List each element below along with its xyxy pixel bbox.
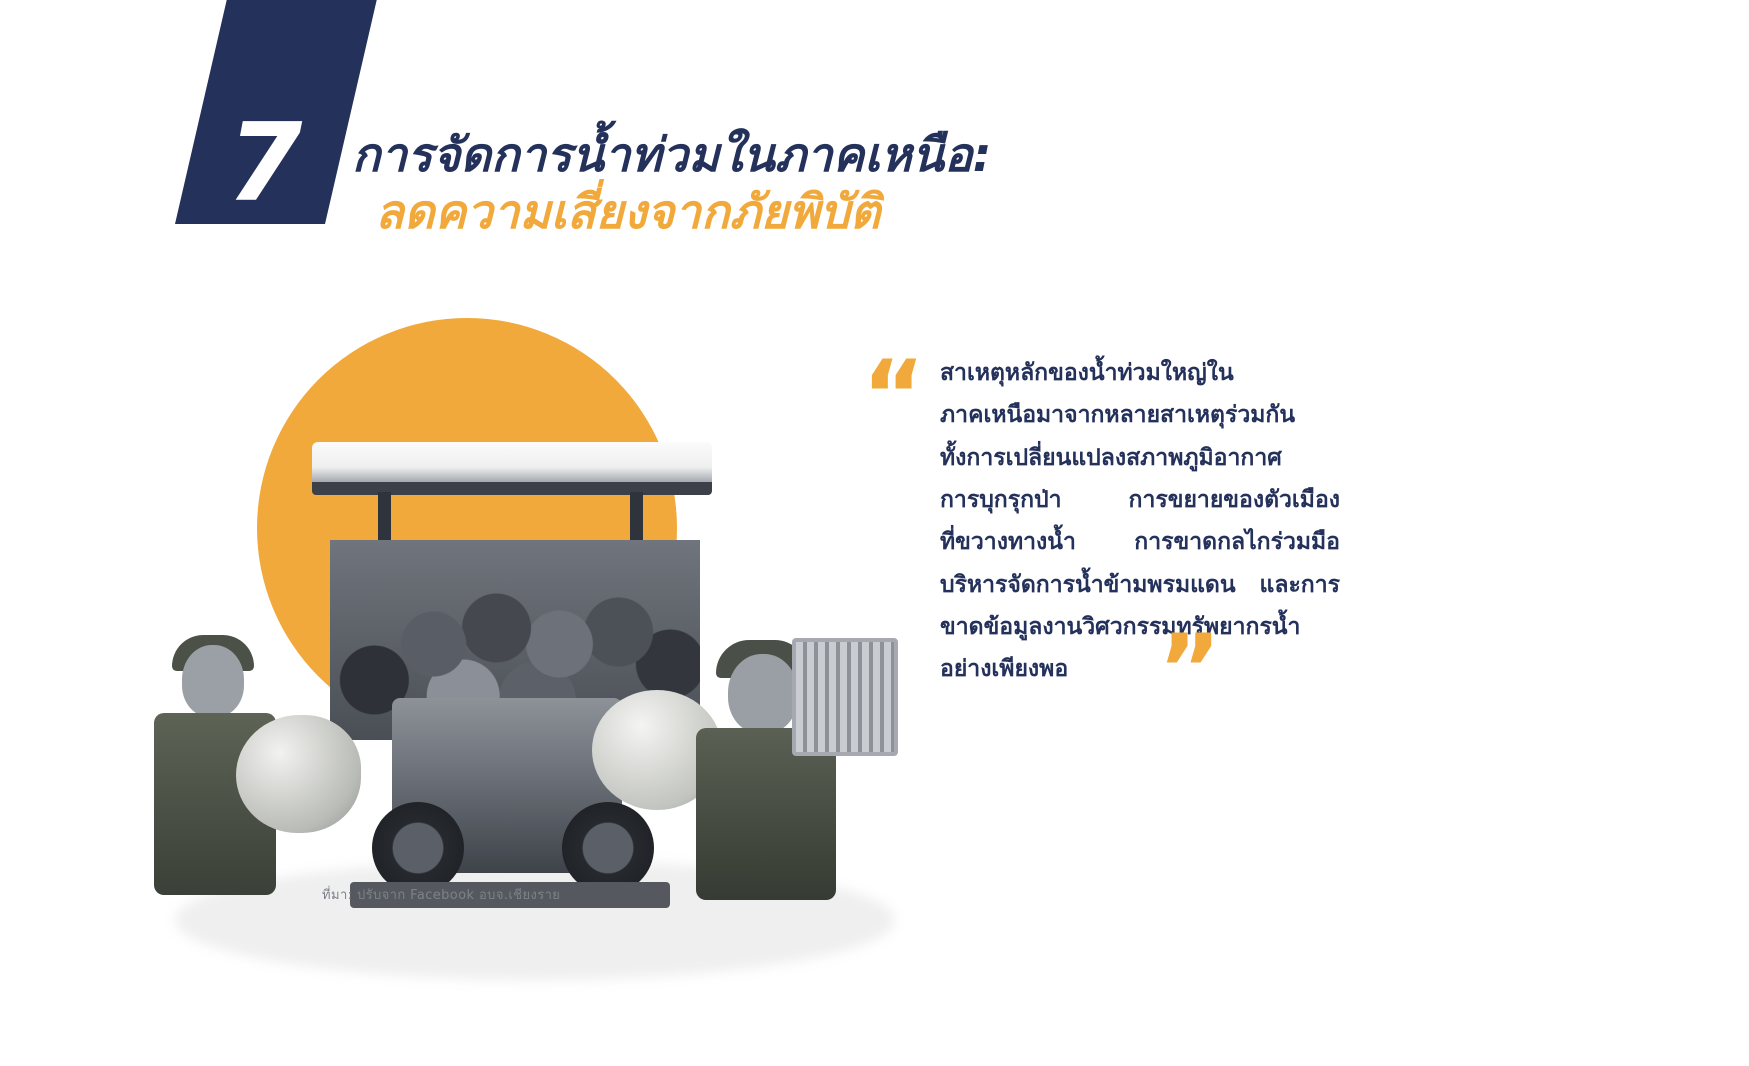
pull-quote: “ สาเหตุหลักของน้ำท่วมใหญ่ใน ภาคเหนือมาจ… — [862, 352, 1342, 691]
quote-line: ทั้งการเปลี่ยนแปลงสภาพภูมิอากาศ — [940, 437, 1340, 479]
quote-line: ภาคเหนือมาจากหลายสาเหตุร่วมกัน — [940, 394, 1340, 436]
figure-source-caption: ที่มา: ปรับจาก Facebook อบจ.เชียงราย — [322, 884, 560, 905]
title-line-secondary: ลดความเสี่ยงจากภัยพิบัติ — [375, 185, 1352, 240]
tractor-wheel-left — [372, 802, 464, 894]
tractor-wheel-right — [562, 802, 654, 894]
quote-line: สาเหตุหลักของน้ำท่วมใหญ่ใน — [940, 352, 1340, 394]
quote-line: ขาดข้อมูลงานวิศวกรรมทรัพยากรน้ำ — [940, 606, 1340, 648]
quote-line: การบุกรุกป่า การขยายของตัวเมือง — [940, 479, 1340, 521]
quote-close-mark: ” — [1158, 642, 1217, 700]
quote-line-last-text: อย่างเพียงพอ — [940, 656, 1068, 682]
quote-line: บริหารจัดการน้ำข้ามพรมแดน และการ — [940, 564, 1340, 606]
quote-line: ที่ขวางทางน้ำ การขาดกลไกร่วมมือ — [940, 521, 1340, 563]
relief-bundle-left — [236, 715, 361, 833]
flood-rescue-photo — [300, 430, 720, 920]
section-number-banner: 7 — [175, 0, 378, 224]
section-number: 7 — [189, 110, 339, 218]
quote-line-last: อย่างเพียงพอ ” — [940, 648, 1340, 690]
tractor-canopy-edge — [312, 482, 712, 495]
soldier-head-left — [182, 645, 244, 717]
soldier-head-right — [728, 654, 798, 734]
quote-text: สาเหตุหลักของน้ำท่วมใหญ่ใน ภาคเหนือมาจาก… — [940, 352, 1340, 691]
tractor-canopy — [312, 442, 712, 484]
page-title: การจัดการน้ำท่วมในภาคเหนือ: ลดความเสี่ยง… — [352, 128, 1352, 241]
title-line-primary: การจัดการน้ำท่วมในภาคเหนือ: — [352, 128, 1352, 183]
soldier-carrying-bundle-left — [140, 635, 340, 895]
quote-open-mark: “ — [862, 368, 921, 426]
